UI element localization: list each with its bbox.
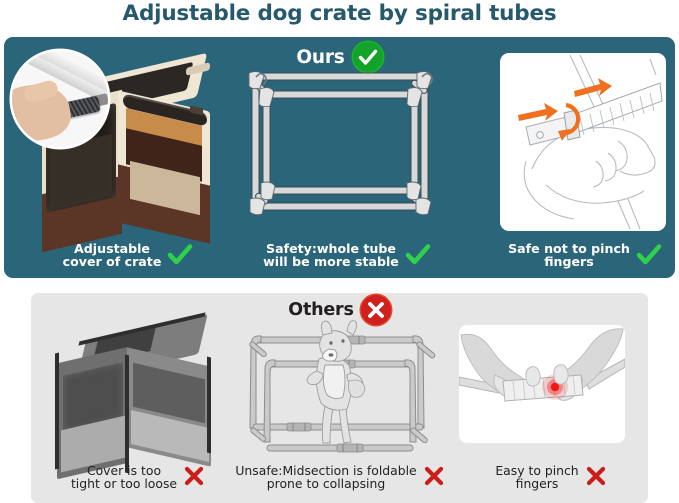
red-cross-mark bbox=[183, 465, 205, 492]
red-cross-mark bbox=[423, 465, 445, 492]
ours-cell-adjustable-cover bbox=[8, 51, 236, 241]
gray-soft-crate-photo bbox=[55, 327, 225, 477]
others-caption-1-text: Cover is too tight or too loose bbox=[71, 465, 177, 490]
foldable-midsection-frame-with-dog bbox=[233, 319, 447, 467]
hand-holding-spiral-tube-inset bbox=[12, 51, 108, 147]
others-cell-foldable-midsection bbox=[233, 319, 447, 467]
others-heading-label: Others bbox=[288, 300, 353, 320]
product-comparison-infographic: Adjustable dog crate by spiral tubes Our… bbox=[0, 0, 679, 503]
ours-caption-1: Adjustable cover of crate bbox=[18, 239, 238, 273]
whole-tube-frame-diagram bbox=[236, 59, 446, 241]
others-caption-1: Cover is too tight or too loose bbox=[45, 461, 231, 495]
ours-caption-2-text: Safety:whole tube will be more stable bbox=[263, 243, 399, 269]
green-check-mark bbox=[405, 243, 431, 270]
green-check-mark bbox=[167, 243, 193, 270]
others-caption-3-text: Easy to pinch fingers bbox=[495, 465, 578, 490]
page-title: Adjustable dog crate by spiral tubes bbox=[0, 1, 679, 26]
ours-caption-1-text: Adjustable cover of crate bbox=[63, 243, 162, 269]
others-section: Others bbox=[31, 293, 648, 503]
ours-section: Ours bbox=[4, 37, 675, 278]
others-caption-3: Easy to pinch fingers bbox=[467, 461, 635, 495]
hands-pinching-tube-joint-lineart bbox=[459, 325, 625, 443]
others-caption-2: Unsafe:Midsection is foldable prone to c… bbox=[227, 461, 453, 495]
others-cell-cover-fit bbox=[37, 325, 233, 467]
ours-caption-2: Safety:whole tube will be more stable bbox=[249, 239, 445, 273]
ours-caption-3: Safe not to pinch fingers bbox=[496, 239, 674, 273]
red-cross-mark bbox=[585, 465, 607, 492]
ours-cell-whole-tube bbox=[236, 59, 446, 241]
ours-caption-3-text: Safe not to pinch fingers bbox=[508, 243, 630, 269]
hand-twisting-spiral-tube-lineart bbox=[500, 53, 666, 231]
others-caption-2-text: Unsafe:Midsection is foldable prone to c… bbox=[235, 465, 416, 490]
green-check-mark bbox=[636, 243, 662, 270]
